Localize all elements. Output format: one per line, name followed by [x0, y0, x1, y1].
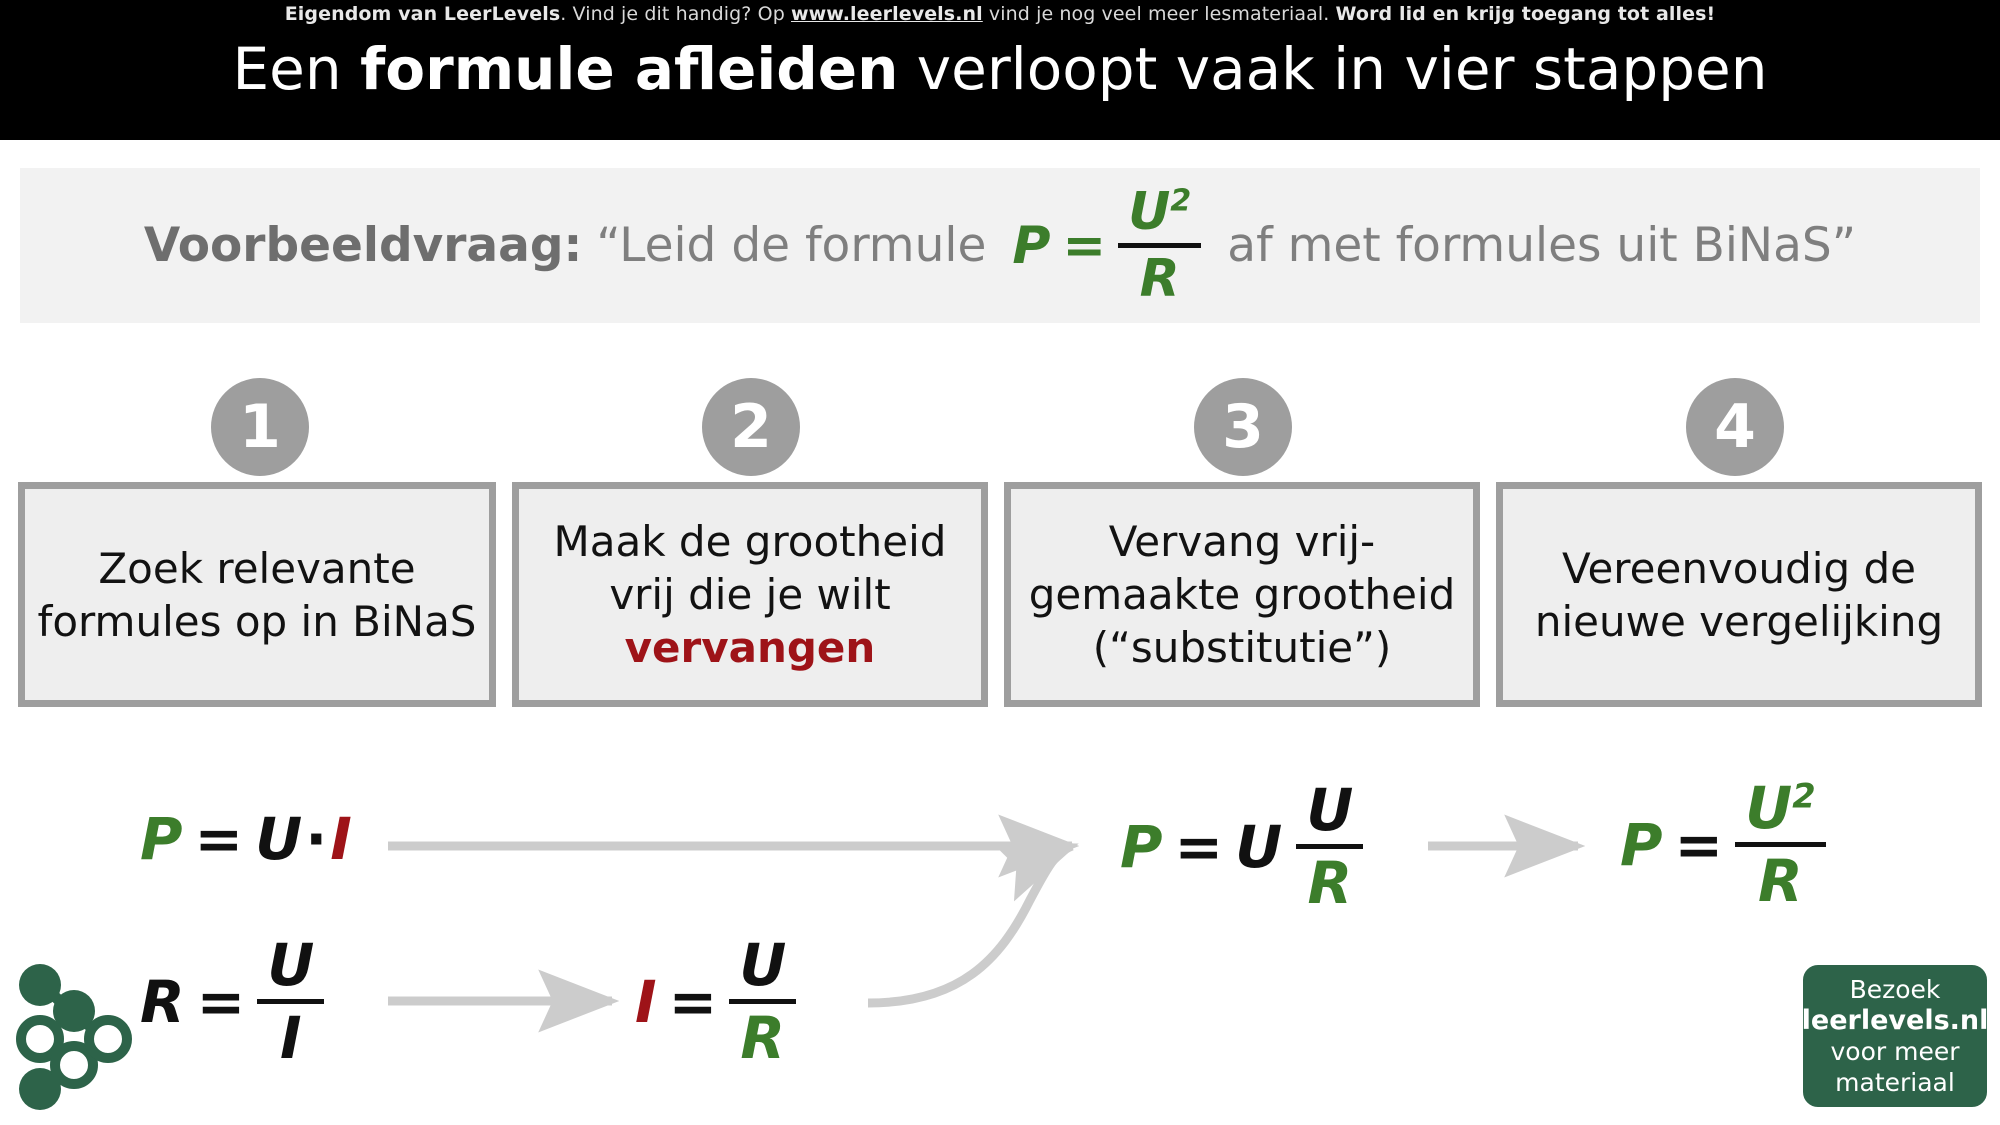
formula-power-ui-dot: · [305, 805, 327, 873]
formula-substituted: P = U U R [1120, 780, 1363, 913]
step-box-1-text: Zoek relevante formules op in BiNaS [38, 542, 477, 648]
formula-result-numerator: U2 [1735, 778, 1826, 838]
step-box-4[interactable]: Vereenvoudig de nieuwe vergelijking [1496, 482, 1982, 707]
attribution-cta: Word lid en krijg toegang tot alles! [1336, 3, 1716, 25]
step-box-2-text: Maak de grootheid vrij die je wilt verva… [554, 515, 947, 674]
page-title-part1: Een [233, 35, 361, 103]
formula-power-ui-voltage: U [255, 805, 302, 873]
step-box-4-line-1: Vereenvoudig de [1562, 544, 1916, 593]
leerlevels-link[interactable]: www.leerlevels.nl [791, 3, 983, 25]
formula-resistance-numerator: U [257, 935, 324, 995]
formula-current-math: I = U R [635, 935, 796, 1068]
formula-substituted-lhs: P [1120, 813, 1163, 881]
step-number-4-label: 4 [1714, 397, 1756, 457]
step-number-1-label: 1 [239, 397, 281, 457]
step-number-3: 3 [1194, 378, 1292, 476]
step-number-1: 1 [211, 378, 309, 476]
step-box-4-line-2: nieuwe vergelijking [1535, 597, 1943, 646]
formula-result-lhs: P [1620, 811, 1663, 879]
step-box-3-line-1: Vervang vrij- [1109, 517, 1375, 566]
badge-line-1: Bezoek [1850, 974, 1941, 1005]
step-box-1-line-1: Zoek relevante [98, 544, 415, 593]
formula-substituted-fraction: U R [1296, 780, 1363, 913]
attribution-owner: Eigendom van LeerLevels [285, 3, 561, 25]
visit-leerlevels-badge[interactable]: Bezoek leerlevels.nl voor meer materiaal [1800, 962, 1990, 1110]
formula-current-equals: = [669, 968, 718, 1036]
example-formula-lhs: P [1012, 216, 1050, 276]
step-box-2-line-1: Maak de grootheid [554, 517, 947, 566]
example-formula-equals: = [1062, 216, 1106, 276]
example-formula-exponent: 2 [1170, 184, 1191, 219]
example-question-box: Voorbeeldvraag: “Leid de formule P = U2 … [20, 168, 1980, 323]
formula-substituted-math: P = U U R [1120, 780, 1363, 913]
leerlevels-logo-icon [10, 955, 140, 1115]
page-title: Een formule afleiden verloopt vaak in vi… [0, 32, 2000, 106]
page-title-emphasis: formule afleiden [360, 35, 898, 103]
formula-power-ui-equals: = [195, 805, 244, 873]
example-formula: P = U2 R [1012, 185, 1201, 306]
step-box-3-text: Vervang vrij- gemaakte grootheid (“subst… [1029, 515, 1456, 674]
formula-power-ui: P = U · I [140, 805, 352, 873]
step-box-3-line-3: (“substitutie”) [1093, 623, 1392, 672]
formula-substituted-factor: U [1235, 813, 1282, 881]
formula-power-ui-lhs: P [140, 805, 183, 873]
example-question-content: Voorbeeldvraag: “Leid de formule P = U2 … [144, 185, 1856, 306]
formula-resistance-lhs: R [140, 968, 185, 1036]
formula-resistance: R = U I [140, 935, 324, 1068]
formula-power-ui-math: P = U · I [140, 805, 352, 873]
badge-domain: leerlevels.nl [1802, 1005, 1989, 1036]
formula-resistance-equals: = [197, 968, 246, 1036]
formula-current-lhs: I [635, 968, 657, 1036]
example-quote-close: af met formules uit BiNaS” [1227, 218, 1856, 273]
example-formula-numerator: U2 [1118, 185, 1201, 239]
formula-result-equals: = [1675, 811, 1724, 879]
step-number-4: 4 [1686, 378, 1784, 476]
step-box-2-highlight: vervangen [625, 623, 876, 672]
step-box-2-line-2: vrij die je wilt [609, 570, 890, 619]
formula-resistance-math: R = U I [140, 935, 324, 1068]
formula-result-exponent: 2 [1792, 777, 1815, 816]
step-number-2-label: 2 [730, 397, 772, 457]
step-box-3[interactable]: Vervang vrij- gemaakte grootheid (“subst… [1004, 482, 1480, 707]
step-box-4-text: Vereenvoudig de nieuwe vergelijking [1535, 542, 1943, 648]
formula-current-numerator: U [729, 935, 796, 995]
formula-current-fraction: U R [729, 935, 796, 1068]
formula-current-denominator: R [730, 1008, 795, 1068]
attribution-mid-1: . Vind je dit handig? Op [560, 3, 791, 25]
formula-substituted-equals: = [1175, 813, 1224, 881]
page-title-part2: verloopt vaak in vier stappen [898, 35, 1767, 103]
formula-result-math: P = U2 R [1620, 778, 1826, 911]
step-box-1[interactable]: Zoek relevante formules op in BiNaS [18, 482, 496, 707]
step-number-2: 2 [702, 378, 800, 476]
formula-resistance-denominator: I [270, 1008, 312, 1068]
attribution-bar: Eigendom van LeerLevels. Vind je dit han… [0, 2, 2000, 26]
attribution-mid-2: vind je nog veel meer lesmateriaal. [983, 3, 1336, 25]
formula-result-fraction: U2 R [1735, 778, 1826, 911]
formula-result-denominator: R [1748, 851, 1813, 911]
badge-line-3: voor meer [1830, 1036, 1959, 1067]
formula-substituted-denominator: R [1297, 853, 1362, 913]
example-formula-denominator: R [1130, 252, 1190, 306]
formula-current: I = U R [635, 935, 796, 1068]
step-box-3-line-2: gemaakte grootheid [1029, 570, 1456, 619]
step-box-1-line-2: formules op in BiNaS [38, 597, 477, 646]
arrow-substitution-curve [868, 846, 1072, 1003]
example-quote-open: “Leid de formule [596, 218, 986, 273]
formula-resistance-fraction: U I [257, 935, 324, 1068]
example-label: Voorbeeldvraag: [144, 218, 582, 273]
badge-line-4: materiaal [1835, 1067, 1955, 1098]
formula-result: P = U2 R [1620, 778, 1826, 911]
formula-power-ui-current: I [330, 805, 352, 873]
step-box-2[interactable]: Maak de grootheid vrij die je wilt verva… [512, 482, 988, 707]
example-formula-fraction: U2 R [1118, 185, 1201, 306]
formula-substituted-numerator: U [1296, 780, 1363, 840]
example-formula-fraction-bar [1118, 243, 1201, 248]
step-number-3-label: 3 [1222, 397, 1264, 457]
